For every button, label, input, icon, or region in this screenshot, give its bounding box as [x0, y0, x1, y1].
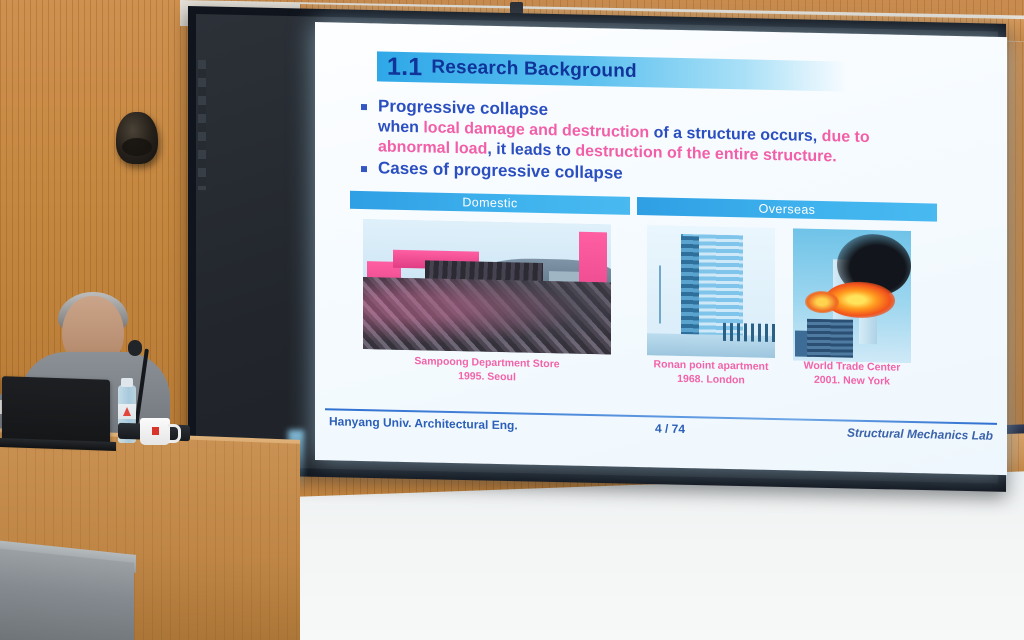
- screen-side-strip: [198, 60, 206, 190]
- body-seg: when: [378, 118, 423, 136]
- water-bottle-cap: [121, 378, 133, 387]
- body-seg: due to: [817, 128, 869, 146]
- case-caption-ronan-point: Ronan point apartment 1968. London: [647, 357, 775, 388]
- case-caption-world-trade-center: World Trade Center 2001. New York: [785, 358, 919, 389]
- bullet-item-1: Progressive collapse when local damage a…: [361, 95, 870, 168]
- case-photo-sampoong: [363, 219, 611, 354]
- body-seg: local damage and destruction: [423, 119, 649, 141]
- case-photo-ronan-point: [647, 225, 775, 358]
- case-detail: 2001. New York: [785, 372, 919, 389]
- body-seg: of a structure occurs,: [649, 124, 817, 145]
- case-photo-world-trade-center: [793, 228, 911, 363]
- body-seg: abnormal load: [378, 138, 487, 157]
- case-caption-sampoong: Sampoong Department Store 1995. Seoul: [363, 353, 611, 386]
- projected-slide: 1.1 Research Background Progressive coll…: [315, 22, 1007, 475]
- case-name: Ronan point apartment: [647, 357, 775, 374]
- case-name: World Trade Center: [785, 358, 919, 375]
- slide-title: 1.1 Research Background: [387, 52, 637, 87]
- laptop: [2, 376, 110, 446]
- slide-footer-left: Hanyang Univ. Architectural Eng.: [329, 414, 518, 432]
- wall-speaker-icon: [116, 112, 158, 164]
- slide-footer-right: Structural Mechanics Lab: [847, 426, 993, 443]
- microphone-head-icon: [128, 340, 142, 356]
- bullet-item-2: Cases of progressive collapse: [361, 157, 623, 185]
- slide-title-number: 1.1: [387, 52, 422, 82]
- water-bottle-label: [118, 404, 136, 419]
- bullet-square-icon: [361, 166, 367, 172]
- category-bar-domestic: Domestic: [350, 191, 630, 215]
- coffee-mug-handle: [168, 424, 181, 443]
- presentation-photo: 1.1 Research Background Progressive coll…: [0, 0, 1024, 640]
- category-bar-overseas: Overseas: [637, 197, 937, 222]
- case-detail: 1968. London: [647, 371, 775, 388]
- bullet-heading-1: Progressive collapse: [378, 96, 548, 119]
- body-seg: , it leads to: [487, 141, 575, 160]
- bullet-square-icon: [361, 104, 367, 110]
- slide-page-number: 4 / 74: [655, 421, 685, 436]
- slide-title-text: Research Background: [431, 57, 636, 83]
- coffee-mug-logo: [152, 427, 159, 435]
- slide-watermark: [981, 169, 985, 181]
- stage-step: [0, 548, 134, 640]
- bullet-heading-2: Cases of progressive collapse: [378, 157, 623, 184]
